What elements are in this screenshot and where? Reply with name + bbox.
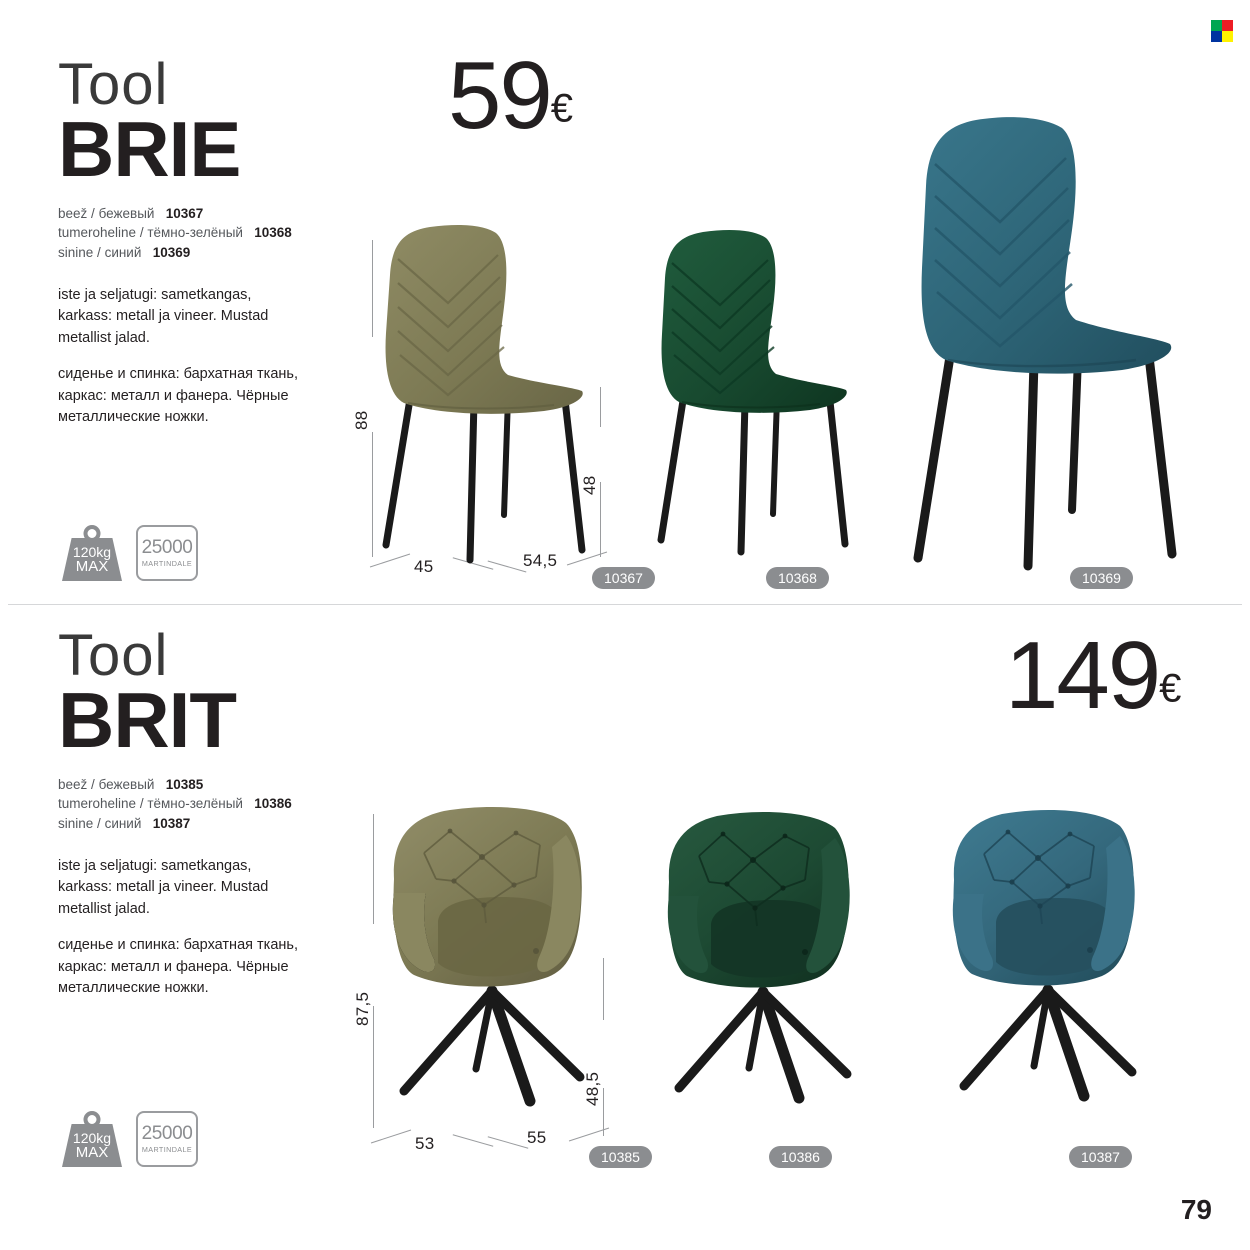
brie-text-column: Tool BRIE beež / бежевый 10367 tumerohel… <box>58 57 298 429</box>
brit-color-ru-1: тёмно-зелёный <box>147 796 243 811</box>
brit-model-title: BRIT <box>58 685 298 757</box>
weight-value: 120kg <box>73 545 111 559</box>
brit-color-number-2: 10387 <box>153 816 191 831</box>
brie-color-ru-1: тёмно-зелёный <box>147 225 243 240</box>
brie-color-et-2: sinine <box>58 245 93 260</box>
brit-text-column: Tool BRIT beež / бежевый 10385 tumerohel… <box>58 628 298 1000</box>
dim-height-line-upper <box>373 814 374 924</box>
product-image-10368 <box>645 222 875 562</box>
brie-color-ru-0: бежевый <box>99 206 155 221</box>
brit-color-et-1: tumeroheline <box>58 796 136 811</box>
weight-max-label: MAX <box>76 559 109 574</box>
brit-price-currency: € <box>1159 667 1181 711</box>
brie-description-et: iste ja seljatugi: sametkangas, karkass:… <box>58 285 298 350</box>
product-code-badge-10368[interactable]: 10368 <box>766 567 829 589</box>
brit-color-code-row: sinine / синий 10387 <box>58 814 298 834</box>
martindale-value: 25000 <box>142 1124 193 1144</box>
product-code-badge-10387[interactable]: 10387 <box>1069 1146 1132 1168</box>
brie-color-et-0: beež <box>58 206 87 221</box>
brie-brand: Tool <box>58 57 298 112</box>
brie-color-code-row: tumeroheline / тёмно-зелёный 10368 <box>58 223 298 243</box>
brit-brand: Tool <box>58 628 298 683</box>
brit-color-ru-0: бежевый <box>99 777 155 792</box>
martindale-icon: 25000 MARTINDALE <box>136 525 198 581</box>
product-image-10386 <box>655 806 895 1136</box>
brie-color-ru-2: синий <box>105 245 142 260</box>
weight-value: 120kg <box>73 1131 111 1145</box>
brit-badges: 120kg MAX 25000 MARTINDALE <box>62 1111 198 1167</box>
product-code-badge-10385[interactable]: 10385 <box>589 1146 652 1168</box>
brie-description-ru: сиденье и спинка: бархатная ткань, карка… <box>58 364 298 429</box>
product-image-10369 <box>900 106 1200 566</box>
brit-color-et-2: sinine <box>58 816 93 831</box>
brit-color-ru-2: синий <box>105 816 142 831</box>
martindale-icon: 25000 MARTINDALE <box>136 1111 198 1167</box>
dim-height-label: 87,5 <box>353 992 373 1026</box>
brie-price: 59€ <box>448 48 573 144</box>
brit-color-code-row: tumeroheline / тёмно-зелёный 10386 <box>58 794 298 814</box>
brie-color-number-1: 10368 <box>254 225 292 240</box>
brie-color-et-1: tumeroheline <box>58 225 136 240</box>
brie-model-title: BRIE <box>58 114 298 186</box>
brie-color-code-row: sinine / синий 10369 <box>58 243 298 263</box>
product-code-badge-10386[interactable]: 10386 <box>769 1146 832 1168</box>
brit-color-code-row: beež / бежевый 10385 <box>58 775 298 795</box>
brit-description-ru: сиденье и спинка: бархатная ткань, карка… <box>58 935 298 1000</box>
brit-color-number-1: 10386 <box>254 796 292 811</box>
product-section-brit: Tool BRIT beež / бежевый 10385 tumerohel… <box>0 606 1250 1250</box>
weight-body: 120kg MAX <box>62 1124 122 1167</box>
brit-color-number-0: 10385 <box>166 777 204 792</box>
brie-price-amount: 59 <box>448 42 551 149</box>
product-image-10385 <box>380 801 630 1141</box>
brie-price-currency: € <box>551 87 573 131</box>
product-image-10387 <box>940 804 1180 1134</box>
brit-color-code-list: beež / бежевый 10385 tumeroheline / тёмн… <box>58 775 298 834</box>
brie-color-code-row: beež / бежевый 10367 <box>58 204 298 224</box>
martindale-value: 25000 <box>142 538 193 558</box>
product-section-brie: Tool BRIE beež / бежевый 10367 tumerohel… <box>0 0 1250 605</box>
product-code-badge-10367[interactable]: 10367 <box>592 567 655 589</box>
weight-capacity-icon: 120kg MAX <box>62 525 122 581</box>
brie-badges: 120kg MAX 25000 MARTINDALE <box>62 525 198 581</box>
page-number: 79 <box>1181 1194 1212 1226</box>
brie-color-code-list: beež / бежевый 10367 tumeroheline / тёмн… <box>58 204 298 263</box>
brie-color-number-0: 10367 <box>166 206 204 221</box>
brie-description: iste ja seljatugi: sametkangas, karkass:… <box>58 285 298 430</box>
weight-max-label: MAX <box>76 1145 109 1160</box>
brit-price: 149€ <box>1005 628 1181 724</box>
product-image-10367 <box>368 215 618 565</box>
weight-capacity-icon: 120kg MAX <box>62 1111 122 1167</box>
weight-body: 120kg MAX <box>62 538 122 581</box>
dim-height-line-lower <box>373 1006 374 1128</box>
martindale-label: MARTINDALE <box>142 559 192 568</box>
martindale-label: MARTINDALE <box>142 1145 192 1154</box>
brit-price-amount: 149 <box>1005 622 1159 729</box>
brit-description-et: iste ja seljatugi: sametkangas, karkass:… <box>58 856 298 921</box>
catalog-page: Tool BRIE beež / бежевый 10367 tumerohel… <box>0 0 1250 1250</box>
brit-color-et-0: beež <box>58 777 87 792</box>
brie-color-number-2: 10369 <box>153 245 191 260</box>
brit-description: iste ja seljatugi: sametkangas, karkass:… <box>58 856 298 1001</box>
product-code-badge-10369[interactable]: 10369 <box>1070 567 1133 589</box>
